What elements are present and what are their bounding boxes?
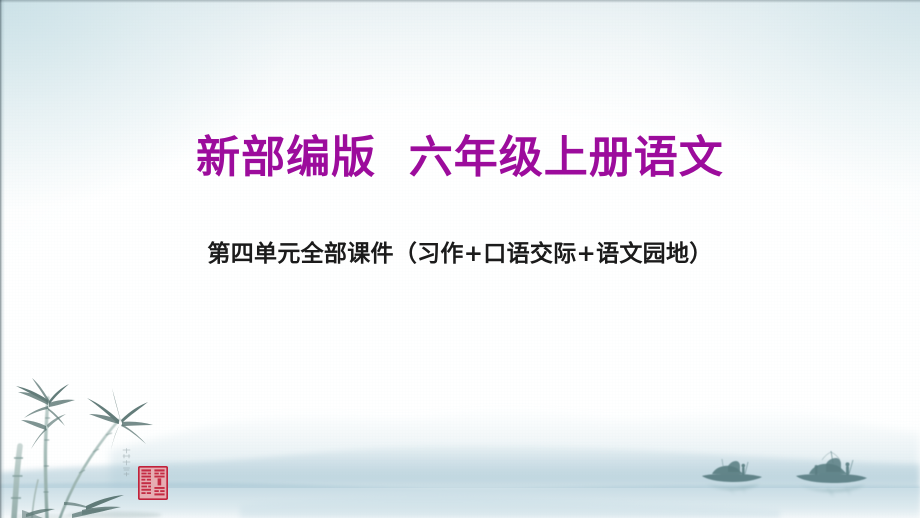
calligraphy-signature [119,448,135,478]
ink-bamboo-painting [2,378,217,518]
subtitle-block: 第四单元全部课件（习作+口语交际+语文园地） [0,240,920,270]
slide-subtitle: 第四单元全部课件（习作+口语交际+语文园地） [0,240,920,270]
title-block: 新部编版 六年级上册语文 [0,132,920,183]
red-seal-stamp [138,466,168,500]
slide-title: 新部编版 六年级上册语文 [0,132,920,183]
fishing-boat-left [698,454,770,496]
slide-top-edge [0,0,920,3]
presentation-slide: 新部编版 六年级上册语文 第四单元全部课件（习作+口语交际+语文园地） [0,0,920,518]
fishing-boat-right [793,450,873,498]
